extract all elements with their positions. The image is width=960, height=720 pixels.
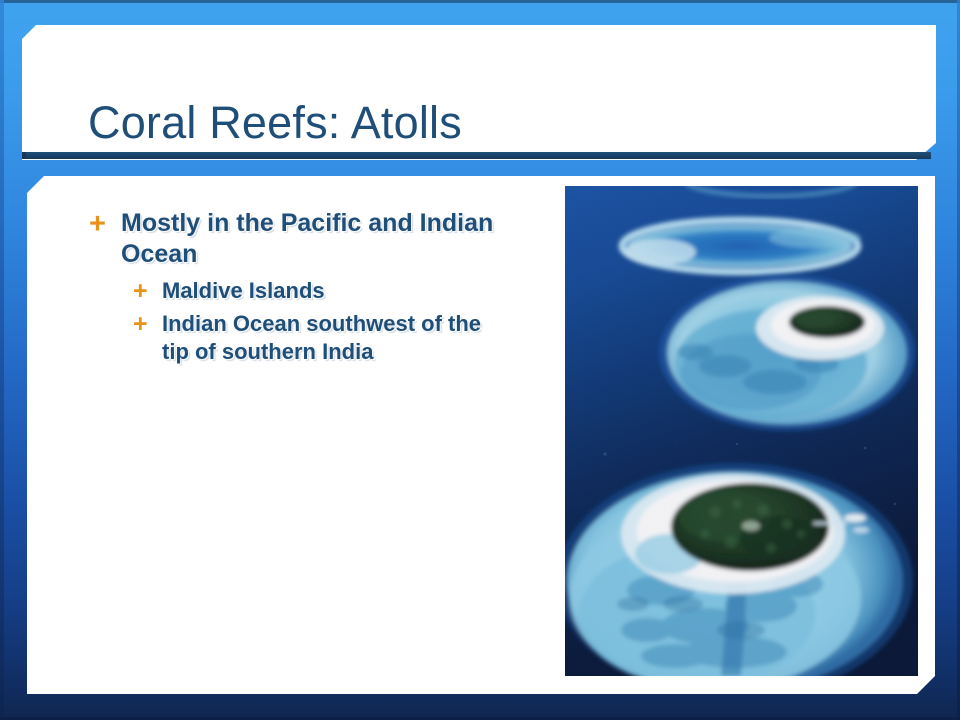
content-panel: + Mostly in the Pacific and Indian Ocean… xyxy=(27,176,935,694)
slide-border-top xyxy=(0,0,960,3)
title-underline xyxy=(26,152,931,159)
plus-bullet-icon: + xyxy=(89,208,121,239)
slide-title: Coral Reefs: Atolls xyxy=(88,97,462,149)
bullet-list: + Mostly in the Pacific and Indian Ocean… xyxy=(89,208,509,371)
bullet-item-2: + Maldive Islands xyxy=(89,277,509,304)
title-panel: Coral Reefs: Atolls xyxy=(22,25,936,160)
slide-canvas: Coral Reefs: Atolls + Mostly in the Paci… xyxy=(0,0,960,720)
bullet-text: Indian Ocean southwest of the tip of sou… xyxy=(162,310,509,365)
plus-bullet-icon: + xyxy=(133,310,162,337)
atoll-photo-graphic xyxy=(565,186,918,676)
bullet-text: Mostly in the Pacific and Indian Ocean xyxy=(121,208,509,269)
slide-border-left xyxy=(0,0,4,720)
bullet-item-1: + Mostly in the Pacific and Indian Ocean xyxy=(89,208,509,269)
atoll-photo xyxy=(565,186,918,676)
plus-bullet-icon: + xyxy=(133,277,162,304)
bullet-text: Maldive Islands xyxy=(162,277,325,304)
bullet-item-3: + Indian Ocean southwest of the tip of s… xyxy=(89,310,509,365)
